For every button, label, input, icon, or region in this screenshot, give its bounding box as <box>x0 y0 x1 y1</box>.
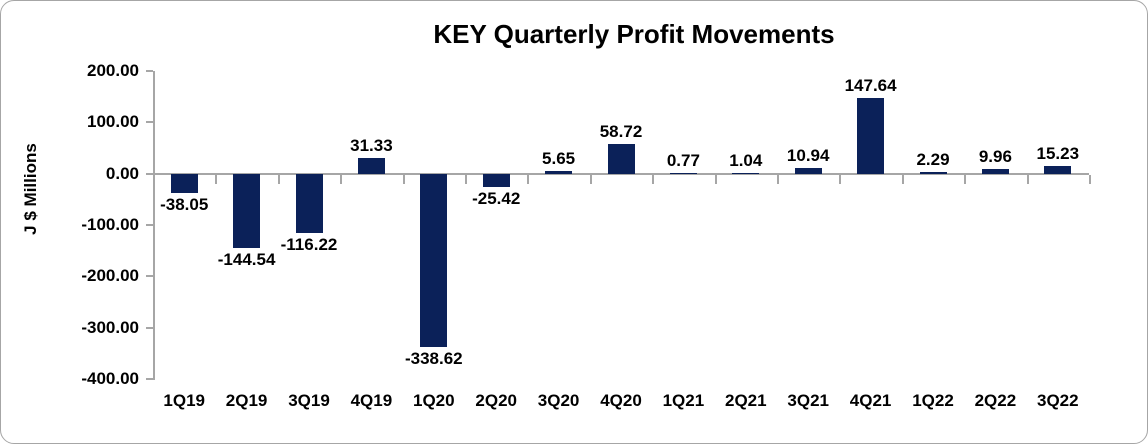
data-label-4Q19: 31.33 <box>350 136 393 156</box>
x-axis-tick <box>1027 175 1029 184</box>
data-label-1Q21: 0.77 <box>667 151 700 171</box>
y-axis-tick-label: -400.00 <box>19 369 139 389</box>
data-label-3Q22: 15.23 <box>1037 144 1080 164</box>
data-label-3Q20: 5.65 <box>542 149 575 169</box>
x-axis-tick <box>715 175 717 184</box>
x-axis-label-4Q21: 4Q21 <box>850 391 892 411</box>
bar-1Q21[interactable] <box>670 173 697 174</box>
bar-1Q22[interactable] <box>920 172 947 173</box>
x-axis-label-1Q21: 1Q21 <box>663 391 705 411</box>
data-label-3Q19: -116.22 <box>281 235 338 255</box>
y-axis-tick <box>146 378 153 380</box>
x-axis-tick <box>527 175 529 184</box>
y-axis-tick <box>146 224 153 226</box>
x-axis-label-1Q20: 1Q20 <box>413 391 455 411</box>
x-axis-label-4Q20: 4Q20 <box>600 391 642 411</box>
x-axis-tick <box>465 175 467 184</box>
x-axis-tick <box>964 175 966 184</box>
data-label-3Q21: 10.94 <box>787 146 830 166</box>
x-axis-tick <box>215 175 217 184</box>
bar-4Q21[interactable] <box>857 98 884 174</box>
y-axis-tick <box>146 173 153 175</box>
plot-area: -38.05-144.54-116.2231.33-338.62-25.425.… <box>153 71 1089 379</box>
data-label-2Q22: 9.96 <box>979 147 1012 167</box>
x-axis-tick <box>652 175 654 184</box>
x-axis-label-3Q20: 3Q20 <box>538 391 580 411</box>
bar-1Q20[interactable] <box>420 174 447 348</box>
x-axis-tick <box>902 175 904 184</box>
y-axis-tick <box>146 70 153 72</box>
bar-3Q19[interactable] <box>296 174 323 234</box>
x-axis-label-1Q19: 1Q19 <box>163 391 205 411</box>
chart-container: KEY Quarterly Profit Movements J $ Milli… <box>0 0 1148 444</box>
bar-4Q19[interactable] <box>358 158 385 174</box>
bar-2Q19[interactable] <box>233 174 260 248</box>
x-axis-label-2Q20: 2Q20 <box>475 391 517 411</box>
y-axis-tick-label: 100.00 <box>19 112 139 132</box>
chart-title: KEY Quarterly Profit Movements <box>1 19 1147 50</box>
data-label-4Q20: 58.72 <box>600 122 643 142</box>
x-axis-label-2Q22: 2Q22 <box>975 391 1017 411</box>
x-axis-tick <box>153 175 155 184</box>
x-axis-tick <box>839 175 841 184</box>
x-axis-tick <box>1089 175 1091 184</box>
bar-2Q21[interactable] <box>732 173 759 174</box>
y-axis-tick-label: -200.00 <box>19 266 139 286</box>
bar-3Q22[interactable] <box>1044 166 1071 174</box>
data-label-2Q21: 1.04 <box>729 151 762 171</box>
data-label-1Q19: -38.05 <box>160 195 208 215</box>
y-axis-tick <box>146 275 153 277</box>
y-axis-tick <box>146 121 153 123</box>
y-axis-tick-label: 0.00 <box>19 164 139 184</box>
x-axis-label-4Q19: 4Q19 <box>351 391 393 411</box>
x-axis-tick <box>278 175 280 184</box>
y-axis-tick-label: -100.00 <box>19 215 139 235</box>
y-axis-tick-label: -300.00 <box>19 318 139 338</box>
bar-3Q21[interactable] <box>795 168 822 174</box>
x-axis-label-3Q19: 3Q19 <box>288 391 330 411</box>
x-axis-label-3Q22: 3Q22 <box>1037 391 1079 411</box>
bar-2Q22[interactable] <box>982 169 1009 174</box>
bar-1Q19[interactable] <box>171 174 198 194</box>
data-label-1Q22: 2.29 <box>916 150 949 170</box>
data-label-4Q21: 147.64 <box>845 76 897 96</box>
x-axis-label-2Q19: 2Q19 <box>226 391 268 411</box>
y-axis-tick <box>146 327 153 329</box>
data-label-2Q20: -25.42 <box>472 189 520 209</box>
y-axis-tick-label: 200.00 <box>19 61 139 81</box>
x-axis-tick <box>403 175 405 184</box>
x-axis-label-2Q21: 2Q21 <box>725 391 767 411</box>
bar-4Q20[interactable] <box>608 144 635 174</box>
x-axis-tick <box>590 175 592 184</box>
x-axis-tick <box>340 175 342 184</box>
data-label-1Q20: -338.62 <box>405 349 463 369</box>
x-axis-label-3Q21: 3Q21 <box>787 391 829 411</box>
data-label-2Q19: -144.54 <box>218 250 276 270</box>
x-axis-tick <box>777 175 779 184</box>
bar-2Q20[interactable] <box>483 174 510 187</box>
bar-3Q20[interactable] <box>545 171 572 174</box>
x-axis-label-1Q22: 1Q22 <box>912 391 954 411</box>
